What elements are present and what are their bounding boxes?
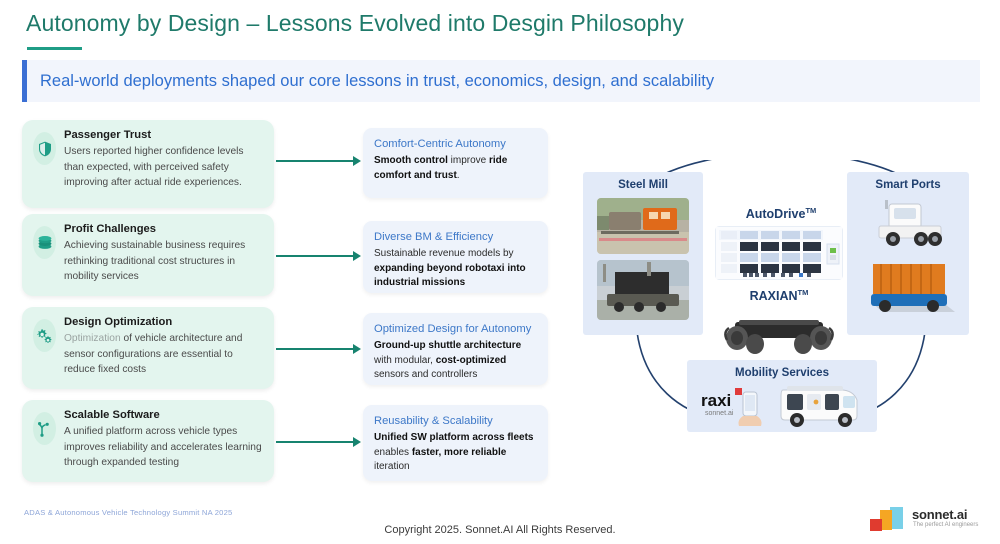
outcome-description: Sustainable revenue models by expanding … (374, 247, 536, 291)
terminal-tractor-photo (863, 198, 955, 252)
container-agv-photo (859, 256, 959, 322)
outcome-title: Reusability & Scalability (374, 414, 536, 428)
lesson-description: Achieving sustainable business requires … (64, 238, 262, 285)
shield-icon (33, 132, 56, 165)
coins-icon (33, 226, 56, 259)
title-underline-accent (27, 47, 82, 50)
diagram-node-smart-ports[interactable]: Smart Ports (847, 172, 969, 335)
autodrive-tm: TM (805, 206, 816, 215)
lesson-description: A unified platform across vehicle types … (64, 424, 262, 471)
outcome-description: Smooth control improve ride comfort and … (374, 154, 536, 183)
ecosystem-diagram: Steel Mill (575, 160, 987, 460)
center-product-autodrive-label: AutoDriveTM (701, 206, 861, 221)
branch-icon (33, 412, 56, 445)
footer-event-label: ADAS & Autonomous Vehicle Technology Sum… (24, 508, 232, 517)
sonnet-ai-logo: sonnet.ai The perfect AI engineers (868, 506, 986, 538)
autodrive-name: AutoDrive (746, 207, 806, 221)
connector-arrow-2 (276, 251, 361, 261)
outcome-description: Unified SW platform across fleets enable… (374, 431, 536, 475)
outcome-card-comfort-centric-autonomy: Comfort-Centric Autonomy Smooth control … (363, 128, 548, 198)
outcome-card-diverse-bm-efficiency: Diverse BM & Efficiency Sustainable reve… (363, 221, 548, 293)
lesson-description-muted: Optimization (64, 333, 121, 344)
slide: Autonomy by Design – Lessons Evolved int… (0, 0, 1000, 544)
node-label: Smart Ports (847, 179, 969, 191)
outcome-card-optimized-design: Optimized Design for Autonomy Ground-up … (363, 313, 548, 385)
connector-arrow-3 (276, 344, 361, 354)
diagram-node-steel-mill[interactable]: Steel Mill (583, 172, 703, 335)
lesson-card-profit-challenges: Profit Challenges Achieving sustainable … (22, 214, 274, 296)
connector-arrow-1 (276, 156, 361, 166)
outcome-title: Comfort-Centric Autonomy (374, 137, 536, 151)
industrial-transporter-photo (597, 260, 689, 320)
outcome-card-reusability-scalability: Reusability & Scalability Unified SW pla… (363, 405, 548, 481)
logo-wordmark: sonnet.ai (912, 507, 967, 522)
logo-mark-icon (868, 506, 908, 536)
node-label: Mobility Services (687, 367, 877, 379)
node-label: Steel Mill (583, 179, 703, 191)
lesson-card-passenger-trust: Passenger Trust Users reported higher co… (22, 120, 274, 208)
raxi-app-photo: raxi sonnet.ai (699, 384, 771, 428)
outcome-title: Diverse BM & Efficiency (374, 230, 536, 244)
gears-icon (33, 319, 56, 352)
logo-tagline: The perfect AI engineers (913, 522, 978, 528)
lesson-title: Scalable Software (64, 409, 262, 421)
footer-copyright: Copyright 2025. Sonnet.AI All Rights Res… (0, 524, 1000, 536)
page-title: Autonomy by Design – Lessons Evolved int… (26, 10, 684, 37)
lesson-card-scalable-software: Scalable Software A unified platform acr… (22, 400, 274, 482)
raxian-tm: TM (798, 288, 809, 297)
lesson-card-design-optimization: Design Optimization Optimization of vehi… (22, 307, 274, 389)
lesson-title: Design Optimization (64, 316, 262, 328)
lesson-title: Profit Challenges (64, 223, 262, 235)
lesson-title: Passenger Trust (64, 129, 262, 141)
raxian-name: RAXIAN (750, 289, 798, 303)
lesson-description: Optimization of vehicle architecture and… (64, 331, 262, 378)
outcome-title: Optimized Design for Autonomy (374, 322, 536, 336)
subtitle-text: Real-world deployments shaped our core l… (40, 60, 714, 102)
lesson-description: Users reported higher confidence levels … (64, 144, 262, 191)
subtitle-accent-bar (22, 60, 27, 102)
autodrive-dashboard (715, 226, 843, 280)
locomotive-photo (597, 198, 689, 254)
center-product-raxian-label: RAXIANTM (699, 288, 859, 303)
autonomous-shuttle-photo (773, 380, 867, 430)
diagram-node-mobility-services[interactable]: Mobility Services raxi sonnet.ai (687, 360, 877, 432)
raxian-chassis (711, 306, 847, 358)
svg-text:sonnet.ai: sonnet.ai (705, 410, 734, 417)
outcome-description: Ground-up shuttle architecture with modu… (374, 339, 536, 383)
connector-arrow-4 (276, 437, 361, 447)
svg-text:raxi: raxi (701, 391, 731, 410)
